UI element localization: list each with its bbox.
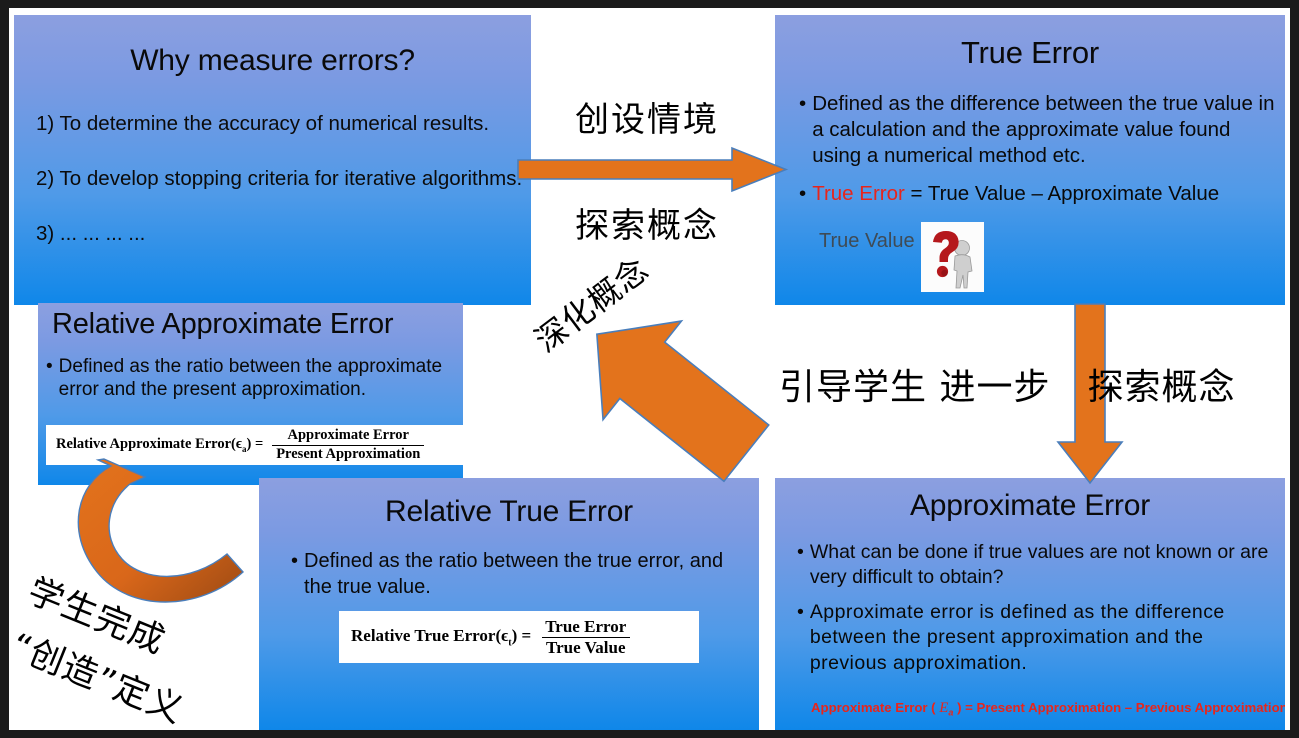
bullet-dot-icon: •	[799, 91, 806, 170]
slide-frame: Why measure errors? 1) To determine the …	[0, 0, 1299, 738]
true-value-label: True Value	[819, 230, 915, 253]
ae-bullet-2: • Approximate error is defined as the di…	[797, 600, 1279, 676]
rae-bullet-1-text: Defined as the ratio between the approxi…	[59, 355, 454, 401]
question-mark-thinking-person-icon	[921, 222, 984, 292]
why-line-1: 1) To determine the accuracy of numerica…	[36, 112, 489, 136]
approximate-error-formula: Approximate Error ( Ea ) = Present Appro…	[811, 700, 1285, 718]
bullet-dot-icon: •	[797, 540, 804, 591]
ae-bullet-1-text: What can be done if true values are not …	[810, 540, 1275, 591]
why-line-2: 2) To develop stopping criteria for iter…	[36, 167, 522, 191]
ae-bullet-1: • What can be done if true values are no…	[797, 540, 1275, 591]
true-error-bullet-1-text: Defined as the difference between the tr…	[812, 91, 1279, 170]
rae-denominator: Present Approximation	[272, 445, 424, 462]
relative-true-error-formula: Relative True Error(ϵt) = True Error Tru…	[339, 611, 699, 663]
annotation-create-context: 创设情境	[575, 92, 719, 141]
rte-denominator: True Value	[542, 637, 630, 657]
bullet-dot-icon: •	[799, 181, 806, 207]
arrow-right-icon	[518, 148, 790, 192]
true-error-bullet-1: • Defined as the difference between the …	[799, 91, 1279, 170]
panel-true-error[interactable]: True Error • Defined as the difference b…	[775, 15, 1285, 305]
rte-bullet-1: • Defined as the ratio between the true …	[291, 548, 731, 600]
why-line-3: 3) ... ... ... ...	[36, 222, 145, 246]
true-error-equation: True Error = True Value – Approximate Va…	[812, 181, 1279, 207]
rae-bullet-1: • Defined as the ratio between the appro…	[46, 355, 454, 401]
panel-title-relative-true-error: Relative True Error	[259, 496, 759, 528]
annotation-guide-students: 引导学生 进一步 探索概念	[779, 358, 1235, 410]
panel-title-why: Why measure errors?	[14, 45, 531, 77]
bullet-dot-icon: •	[797, 600, 804, 676]
true-error-bullet-2: • True Error = True Value – Approximate …	[799, 181, 1279, 207]
rte-formula-lhs: Relative True Error(ϵt) =	[351, 626, 531, 648]
rte-bullet-1-text: Defined as the ratio between the true er…	[304, 548, 731, 600]
rte-fraction: True Error True Value	[541, 618, 630, 657]
panel-relative-true-error[interactable]: Relative True Error • Defined as the rat…	[259, 478, 759, 730]
rae-numerator: Approximate Error	[283, 428, 413, 444]
panel-title-approximate-error: Approximate Error	[775, 490, 1285, 522]
true-error-equation-rest: = True Value – Approximate Value	[905, 182, 1219, 205]
panel-title-true-error: True Error	[775, 37, 1285, 70]
rte-numerator: True Error	[541, 618, 630, 637]
annotation-explore-concept: 探索概念	[575, 198, 719, 247]
panel-title-relative-approximate-error: Relative Approximate Error	[38, 309, 463, 339]
rae-fraction: Approximate Error Present Approximation	[272, 428, 424, 461]
bullet-dot-icon: •	[291, 548, 298, 600]
true-error-equation-highlight: True Error	[812, 182, 905, 205]
bullet-dot-icon: •	[46, 355, 53, 401]
arrow-curved-up-left-icon	[67, 432, 267, 607]
panel-why-measure-errors[interactable]: Why measure errors? 1) To determine the …	[14, 15, 531, 305]
panel-approximate-error[interactable]: Approximate Error • What can be done if …	[775, 478, 1285, 730]
ae-bullet-2-text: Approximate error is defined as the diff…	[810, 600, 1279, 676]
slide-canvas: Why measure errors? 1) To determine the …	[9, 8, 1290, 730]
